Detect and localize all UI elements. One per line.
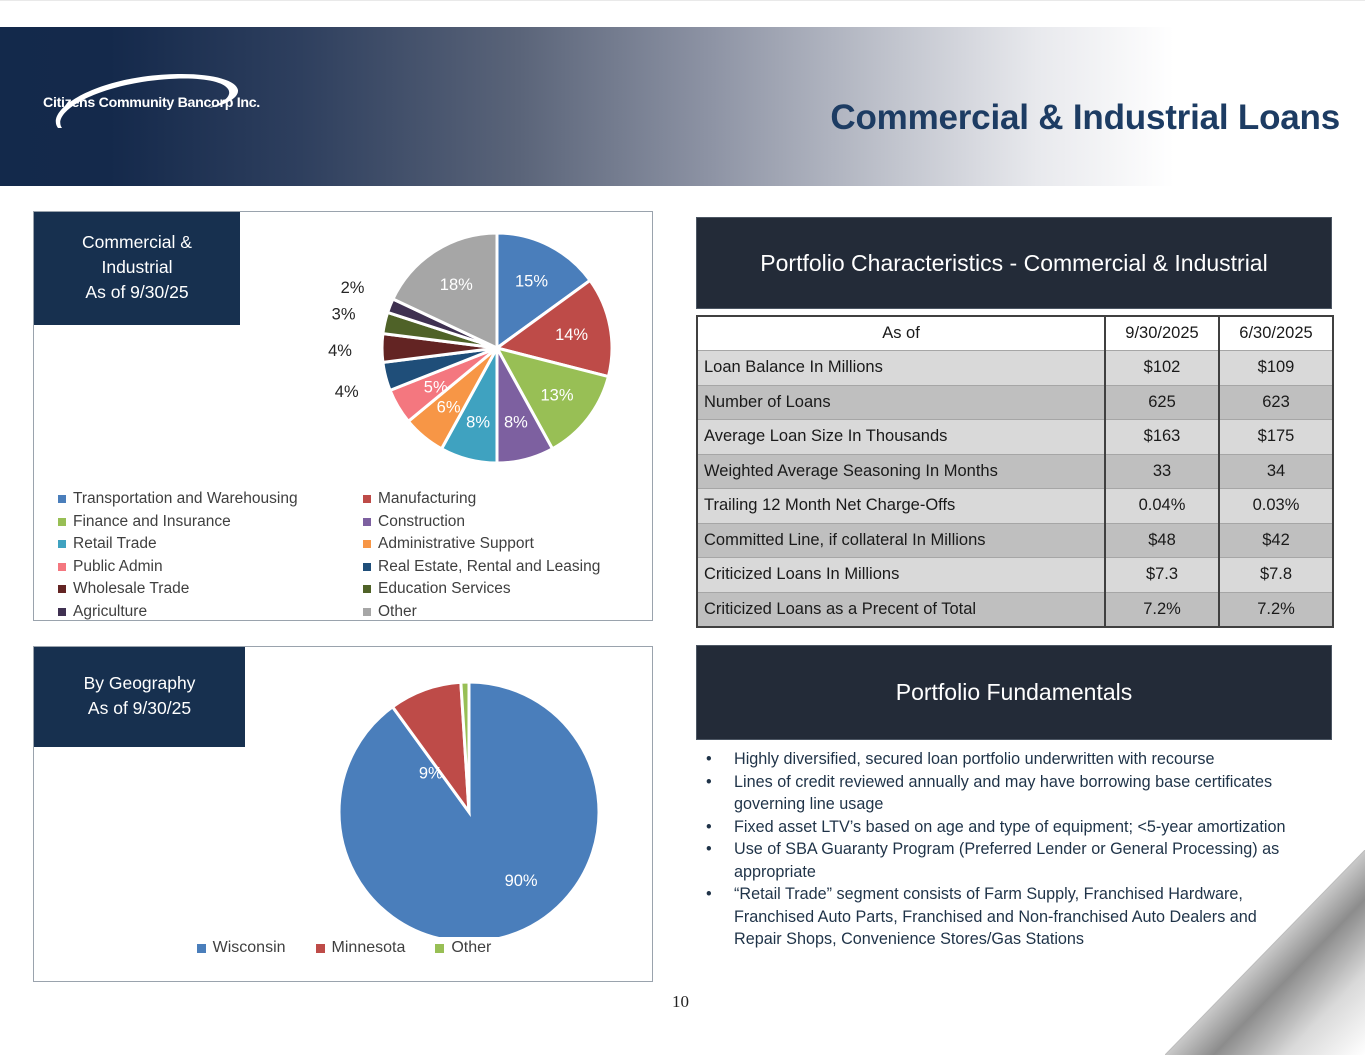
table-header-row: As of 9/30/2025 6/30/2025 bbox=[697, 316, 1333, 351]
legend-swatch-icon bbox=[58, 495, 66, 503]
legend-item: Other bbox=[435, 937, 491, 960]
pie-slice-label: 14% bbox=[555, 326, 588, 344]
row-value-period-2: 7.2% bbox=[1219, 592, 1333, 627]
legend-item: Education Services bbox=[363, 578, 648, 601]
row-value-period-1: $102 bbox=[1105, 351, 1219, 386]
column-header-asof: As of bbox=[697, 316, 1105, 351]
legend-label: Administrative Support bbox=[378, 535, 534, 553]
label-line-2: As of 9/30/25 bbox=[44, 696, 235, 721]
portfolio-characteristics-header: Portfolio Characteristics - Commercial &… bbox=[696, 217, 1332, 309]
pie-slice-label: 13% bbox=[540, 387, 573, 405]
legend-label: Other bbox=[378, 603, 417, 621]
legend-item: Manufacturing bbox=[363, 488, 648, 511]
row-value-period-2: 34 bbox=[1219, 454, 1333, 489]
row-value-period-1: $163 bbox=[1105, 420, 1219, 455]
pie-slice-label: 3% bbox=[332, 306, 356, 324]
row-label: Committed Line, if collateral In Million… bbox=[697, 523, 1105, 558]
legend-label: Other bbox=[451, 939, 491, 957]
pie-slice-label: 4% bbox=[335, 383, 359, 401]
table-row: Criticized Loans as a Precent of Total7.… bbox=[697, 592, 1333, 627]
row-value-period-2: $175 bbox=[1219, 420, 1333, 455]
row-value-period-1: 33 bbox=[1105, 454, 1219, 489]
pie-slice-label: 9% bbox=[419, 765, 443, 783]
row-label: Criticized Loans as a Precent of Total bbox=[697, 592, 1105, 627]
table-row: Committed Line, if collateral In Million… bbox=[697, 523, 1333, 558]
bullet-text: Use of SBA Guaranty Program (Preferred L… bbox=[734, 838, 1300, 883]
pie-slice-label: 2% bbox=[341, 279, 365, 297]
legend-item: Wisconsin bbox=[197, 937, 286, 960]
industry-pie-legend: Transportation and WarehousingManufactur… bbox=[58, 488, 648, 623]
row-value-period-1: 625 bbox=[1105, 385, 1219, 420]
geography-chart-label: By Geography As of 9/30/25 bbox=[34, 647, 245, 747]
row-label: Loan Balance In Millions bbox=[697, 351, 1105, 386]
bullet-dot-icon: • bbox=[700, 771, 734, 816]
legend-label: Public Admin bbox=[73, 558, 163, 576]
industry-chart-label: Commercial & Industrial As of 9/30/25 bbox=[34, 212, 240, 325]
legend-item: Public Admin bbox=[58, 556, 363, 579]
bullet-text: Fixed asset LTV’s based on age and type … bbox=[734, 816, 1300, 839]
legend-swatch-icon bbox=[316, 944, 325, 953]
legend-swatch-icon bbox=[363, 563, 371, 571]
row-value-period-2: 0.03% bbox=[1219, 489, 1333, 524]
legend-swatch-icon bbox=[363, 518, 371, 526]
portfolio-fundamentals-title: Portfolio Fundamentals bbox=[896, 679, 1133, 706]
row-value-period-1: $7.3 bbox=[1105, 558, 1219, 593]
legend-item: Finance and Insurance bbox=[58, 511, 363, 534]
legend-item: Transportation and Warehousing bbox=[58, 488, 363, 511]
legend-item: Retail Trade bbox=[58, 533, 363, 556]
legend-label: Minnesota bbox=[332, 939, 406, 957]
legend-item: Minnesota bbox=[316, 937, 406, 960]
column-header-period-2: 6/30/2025 bbox=[1219, 316, 1333, 351]
legend-swatch-icon bbox=[363, 585, 371, 593]
row-value-period-2: 623 bbox=[1219, 385, 1333, 420]
pie-slice-label: 18% bbox=[440, 276, 473, 294]
table-row: Number of Loans625623 bbox=[697, 385, 1333, 420]
pie-slice-label: 8% bbox=[504, 414, 528, 432]
legend-item: Administrative Support bbox=[363, 533, 648, 556]
legend-label: Transportation and Warehousing bbox=[73, 490, 298, 508]
row-label: Criticized Loans In Millions bbox=[697, 558, 1105, 593]
legend-swatch-icon bbox=[58, 608, 66, 616]
table-row: Criticized Loans In Millions$7.3$7.8 bbox=[697, 558, 1333, 593]
legend-label: Construction bbox=[378, 513, 465, 531]
bullet-item: •Use of SBA Guaranty Program (Preferred … bbox=[700, 838, 1300, 883]
page-title: Commercial & Industrial Loans bbox=[700, 98, 1340, 138]
bullet-item: •Fixed asset LTV’s based on age and type… bbox=[700, 816, 1300, 839]
portfolio-fundamentals-header: Portfolio Fundamentals bbox=[696, 645, 1332, 740]
row-value-period-2: $42 bbox=[1219, 523, 1333, 558]
legend-swatch-icon bbox=[197, 944, 206, 953]
bullet-item: •Lines of credit reviewed annually and m… bbox=[700, 771, 1300, 816]
legend-item: Agriculture bbox=[58, 601, 363, 624]
table-row: Weighted Average Seasoning In Months3334 bbox=[697, 454, 1333, 489]
pie-slice-label: 5% bbox=[424, 379, 448, 397]
row-label: Weighted Average Seasoning In Months bbox=[697, 454, 1105, 489]
slide-top-edge bbox=[0, 0, 1365, 1]
bullet-item: •Highly diversified, secured loan portfo… bbox=[700, 748, 1300, 771]
geography-pie-chart: 90%9%1% bbox=[304, 667, 634, 937]
geography-pie-legend: WisconsinMinnesotaOther bbox=[34, 937, 654, 960]
legend-label: Finance and Insurance bbox=[73, 513, 231, 531]
legend-label: Education Services bbox=[378, 580, 511, 598]
row-value-period-1: 7.2% bbox=[1105, 592, 1219, 627]
bullet-dot-icon: • bbox=[700, 838, 734, 883]
legend-swatch-icon bbox=[58, 585, 66, 593]
industry-pie-chart: 15%14%13%8%8%6%5%4%4%3%2%18% bbox=[302, 222, 642, 487]
legend-swatch-icon bbox=[58, 563, 66, 571]
legend-label: Wholesale Trade bbox=[73, 580, 189, 598]
row-value-period-2: $7.8 bbox=[1219, 558, 1333, 593]
portfolio-characteristics-table: As of 9/30/2025 6/30/2025 Loan Balance I… bbox=[696, 315, 1334, 628]
geography-pie-panel: By Geography As of 9/30/25 90%9%1% Wisco… bbox=[33, 646, 653, 982]
pie-slice-label: 15% bbox=[515, 272, 548, 290]
bullet-text: Highly diversified, secured loan portfol… bbox=[734, 748, 1300, 771]
row-label: Trailing 12 Month Net Charge-Offs bbox=[697, 489, 1105, 524]
label-line-2: Industrial bbox=[44, 255, 230, 280]
row-label: Average Loan Size In Thousands bbox=[697, 420, 1105, 455]
pie-slice-label: 90% bbox=[505, 872, 538, 890]
legend-item: Real Estate, Rental and Leasing bbox=[363, 556, 648, 579]
label-line-1: By Geography bbox=[44, 671, 235, 696]
bullet-text: “Retail Trade” segment consists of Farm … bbox=[734, 883, 1300, 951]
legend-label: Agriculture bbox=[73, 603, 147, 621]
legend-swatch-icon bbox=[363, 495, 371, 503]
legend-item: Wholesale Trade bbox=[58, 578, 363, 601]
legend-item: Other bbox=[363, 601, 648, 624]
pie-slice-label: 4% bbox=[328, 342, 352, 360]
table-row: Average Loan Size In Thousands$163$175 bbox=[697, 420, 1333, 455]
legend-label: Wisconsin bbox=[213, 939, 286, 957]
label-line-1: Commercial & bbox=[44, 230, 230, 255]
bullet-item: •“Retail Trade” segment consists of Farm… bbox=[700, 883, 1300, 951]
legend-label: Manufacturing bbox=[378, 490, 476, 508]
pie-slice-label: 6% bbox=[437, 399, 461, 417]
legend-swatch-icon bbox=[435, 944, 444, 953]
column-header-period-1: 9/30/2025 bbox=[1105, 316, 1219, 351]
label-line-3: As of 9/30/25 bbox=[44, 280, 230, 305]
company-logo: Citizens Community Bancorp Inc. bbox=[40, 68, 285, 140]
table-row: Trailing 12 Month Net Charge-Offs0.04%0.… bbox=[697, 489, 1333, 524]
row-label: Number of Loans bbox=[697, 385, 1105, 420]
legend-swatch-icon bbox=[363, 540, 371, 548]
page-number: 10 bbox=[672, 992, 689, 1012]
legend-swatch-icon bbox=[58, 518, 66, 526]
row-value-period-2: $109 bbox=[1219, 351, 1333, 386]
pie-slice-label: 8% bbox=[466, 414, 490, 432]
legend-label: Real Estate, Rental and Leasing bbox=[378, 558, 600, 576]
legend-swatch-icon bbox=[58, 540, 66, 548]
row-value-period-1: 0.04% bbox=[1105, 489, 1219, 524]
legend-item: Construction bbox=[363, 511, 648, 534]
bullet-dot-icon: • bbox=[700, 816, 734, 839]
row-value-period-1: $48 bbox=[1105, 523, 1219, 558]
portfolio-characteristics-title: Portfolio Characteristics - Commercial &… bbox=[760, 250, 1267, 277]
table-row: Loan Balance In Millions$102$109 bbox=[697, 351, 1333, 386]
bullet-dot-icon: • bbox=[700, 748, 734, 771]
bullet-dot-icon: • bbox=[700, 883, 734, 951]
legend-label: Retail Trade bbox=[73, 535, 157, 553]
legend-swatch-icon bbox=[363, 608, 371, 616]
portfolio-fundamentals-bullets: •Highly diversified, secured loan portfo… bbox=[700, 748, 1300, 951]
industry-pie-panel: Commercial & Industrial As of 9/30/25 15… bbox=[33, 211, 653, 621]
logo-wordmark: Citizens Community Bancorp Inc. bbox=[43, 95, 260, 111]
bullet-text: Lines of credit reviewed annually and ma… bbox=[734, 771, 1300, 816]
